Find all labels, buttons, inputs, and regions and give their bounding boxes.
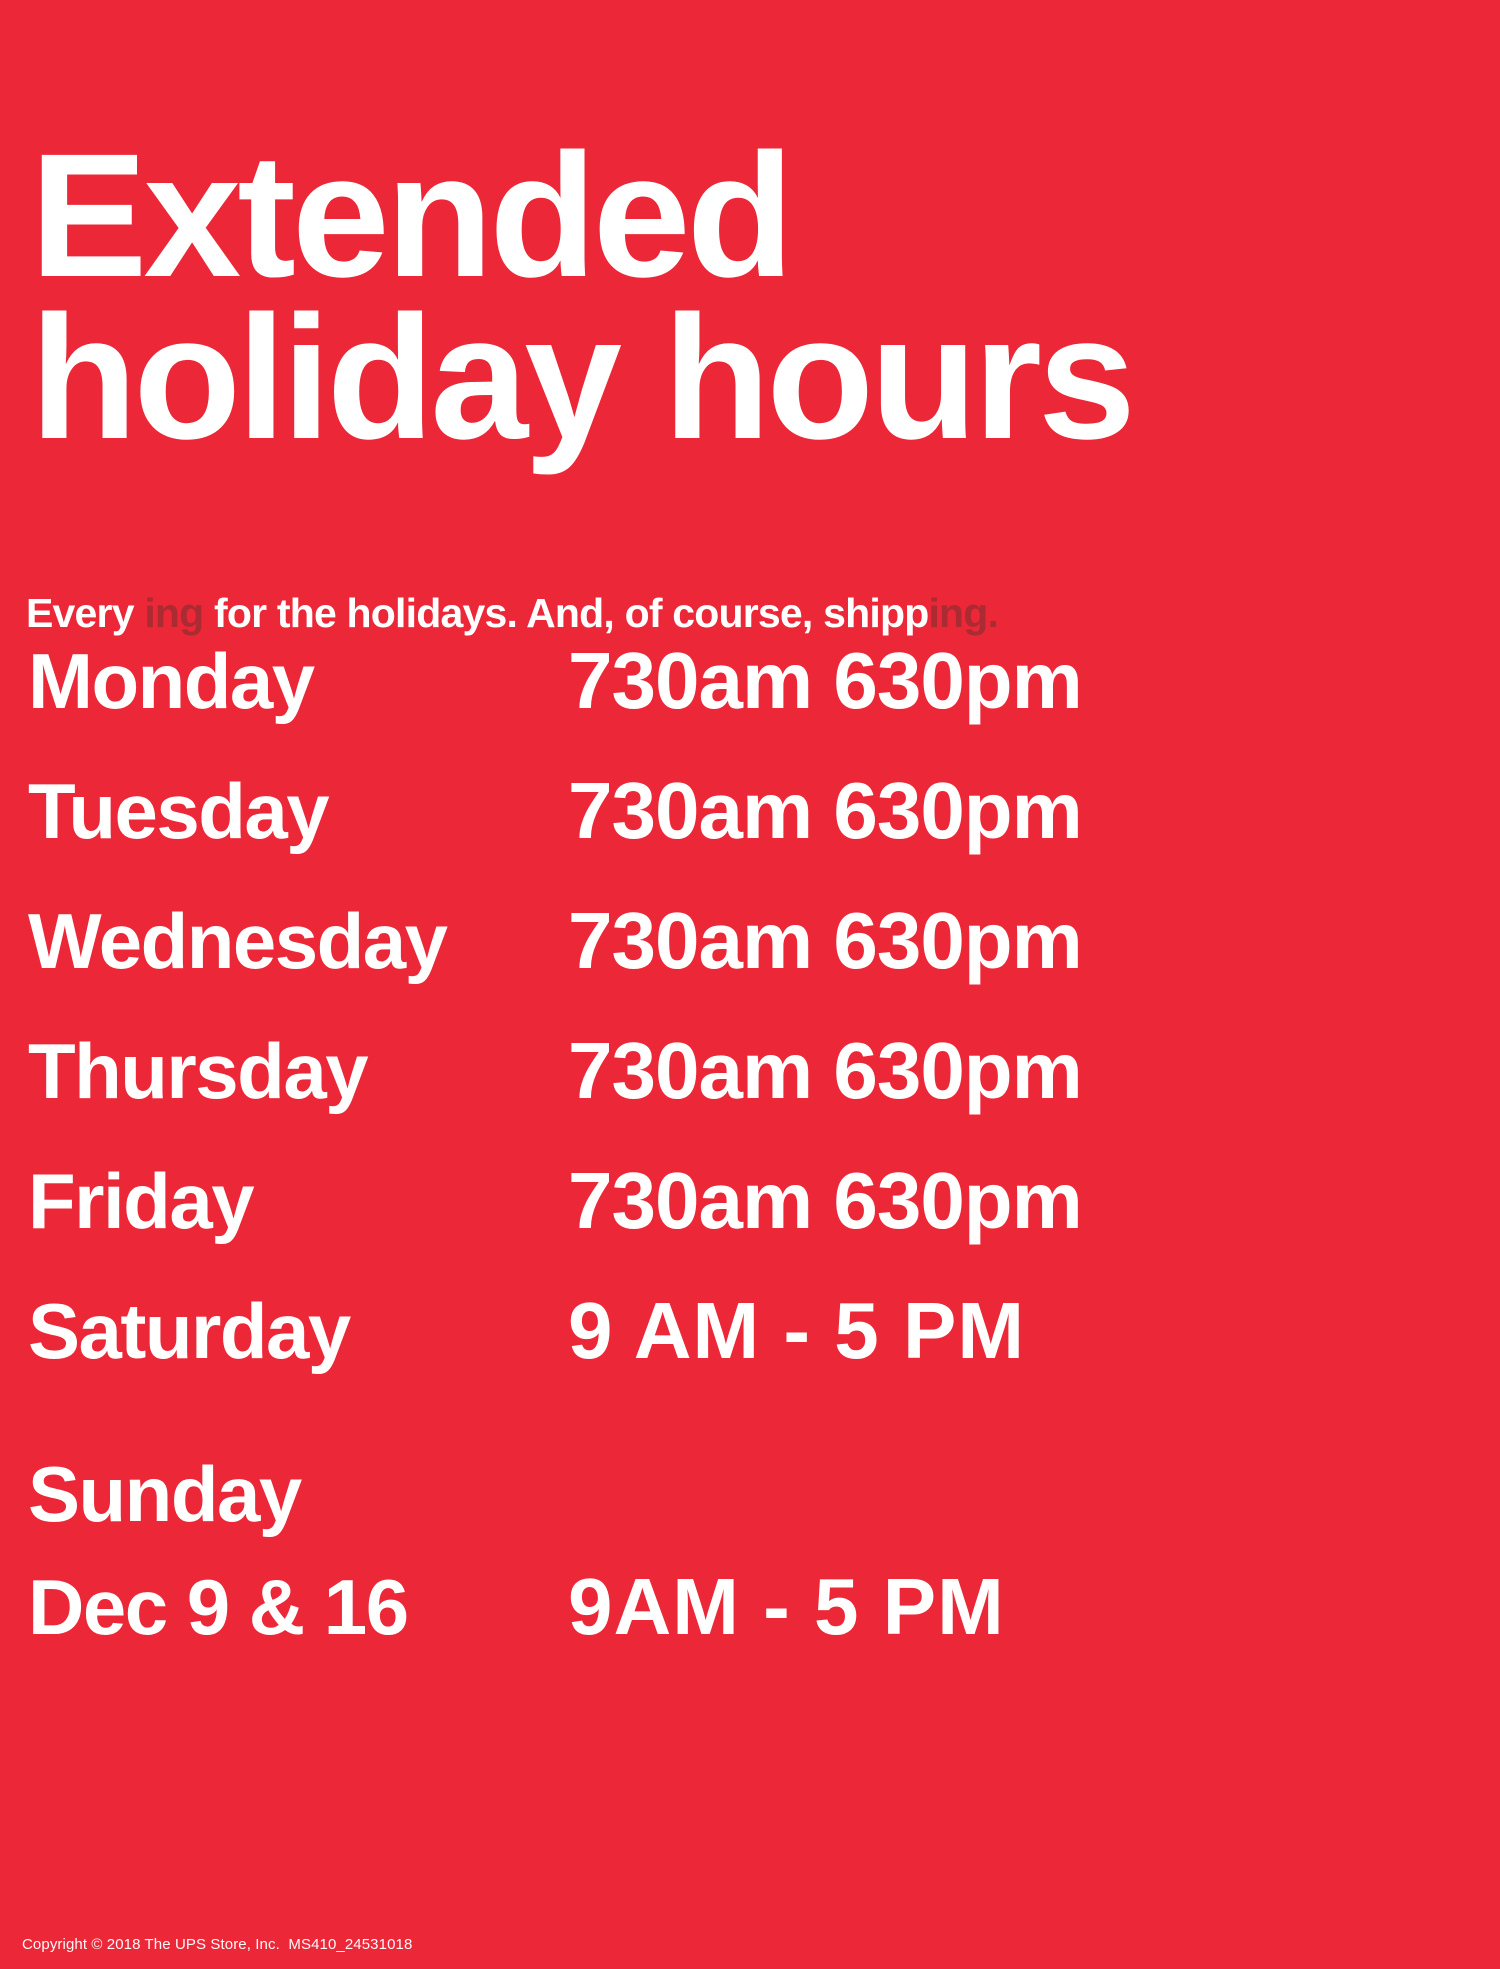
- page-title: Extended holiday hours: [0, 118, 1500, 460]
- time-value-friday: 730am 630pm: [568, 1161, 1082, 1241]
- hours-row-tuesday: Tuesday 730am 630pm: [28, 771, 1500, 901]
- sunday-detail-row: Dec 9 & 16 9AM - 5 PM: [28, 1567, 1500, 1647]
- page-title-line-1: Extended: [30, 136, 1500, 298]
- subtitle-highlight-2: ing.: [928, 590, 998, 636]
- time-value-sunday: 9AM - 5 PM: [568, 1567, 1005, 1647]
- sunday-dates: Dec 9 & 16: [28, 1568, 568, 1646]
- time-value-wednesday: 730am 630pm: [568, 901, 1082, 981]
- time-value-saturday: 9 AM - 5 PM: [568, 1291, 1025, 1371]
- copyright-text: Copyright © 2018 The UPS Store, Inc.: [22, 1936, 280, 1953]
- hours-row-saturday: Saturday 9 AM - 5 PM: [28, 1291, 1500, 1441]
- subtitle-segment-1: Every: [26, 590, 144, 636]
- holiday-hours-poster: Extended holiday hours Every ing for the…: [0, 0, 1500, 1969]
- hours-row-sunday: Sunday Dec 9 & 16 9AM - 5 PM: [28, 1455, 1500, 1647]
- subtitle: Every ing for the holidays. And, of cour…: [26, 592, 1500, 635]
- subtitle-highlight-1: ing: [144, 590, 203, 636]
- day-label-sunday: Sunday: [28, 1455, 1500, 1533]
- time-value-tuesday: 730am 630pm: [568, 771, 1082, 851]
- day-label-tuesday: Tuesday: [28, 772, 568, 850]
- day-label-monday: Monday: [28, 642, 568, 720]
- hours-row-wednesday: Wednesday 730am 630pm: [28, 901, 1500, 1031]
- day-label-wednesday: Wednesday: [28, 902, 568, 980]
- subtitle-segment-2: for the holidays. And, of course, shipp: [203, 590, 928, 636]
- day-label-saturday: Saturday: [28, 1292, 568, 1370]
- hours-row-thursday: Thursday 730am 630pm: [28, 1031, 1500, 1161]
- copyright-footer: Copyright © 2018 The UPS Store, Inc. MS4…: [22, 1936, 412, 1953]
- hours-row-friday: Friday 730am 630pm: [28, 1161, 1500, 1291]
- day-label-thursday: Thursday: [28, 1032, 568, 1110]
- time-value-thursday: 730am 630pm: [568, 1031, 1082, 1111]
- document-code: MS410_24531018: [288, 1936, 412, 1953]
- hours-table: Monday 730am 630pm Tuesday 730am 630pm W…: [0, 641, 1500, 1969]
- page-title-line-2: holiday hours: [30, 298, 1500, 460]
- time-value-monday: 730am 630pm: [568, 641, 1082, 721]
- hours-row-monday: Monday 730am 630pm: [28, 641, 1500, 771]
- day-label-friday: Friday: [28, 1162, 568, 1240]
